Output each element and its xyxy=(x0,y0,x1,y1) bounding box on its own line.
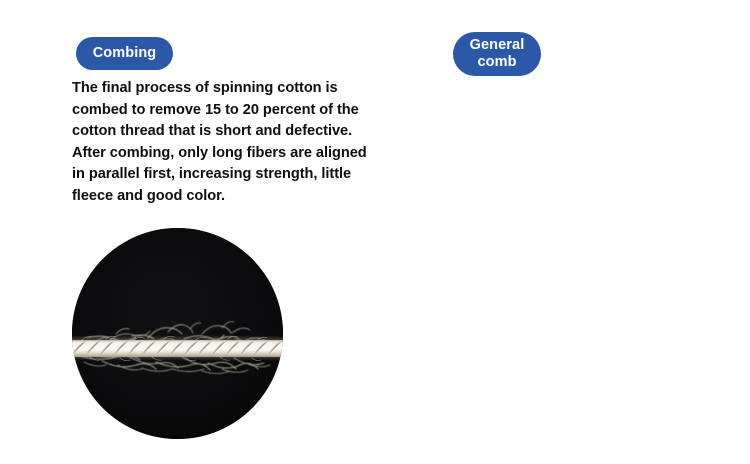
description-combing: The final process of spinning cotton is … xyxy=(72,78,372,208)
badge-general-comb: General comb xyxy=(453,32,541,76)
column-combing: Combing The final process of spinning co… xyxy=(0,0,400,464)
photo-combing-thread xyxy=(72,228,283,439)
combed-thread-illustration xyxy=(72,228,283,439)
infographic-page: Combing The final process of spinning co… xyxy=(0,0,750,464)
badge-combing-label: Combing xyxy=(93,45,157,62)
column-general-comb: General comb Very ordinary cotton thread… xyxy=(400,0,750,464)
badge-general-comb-label-line2: comb xyxy=(477,54,516,71)
badge-general-comb-label-line1: General xyxy=(470,37,525,54)
badge-combing: Combing xyxy=(76,37,173,70)
